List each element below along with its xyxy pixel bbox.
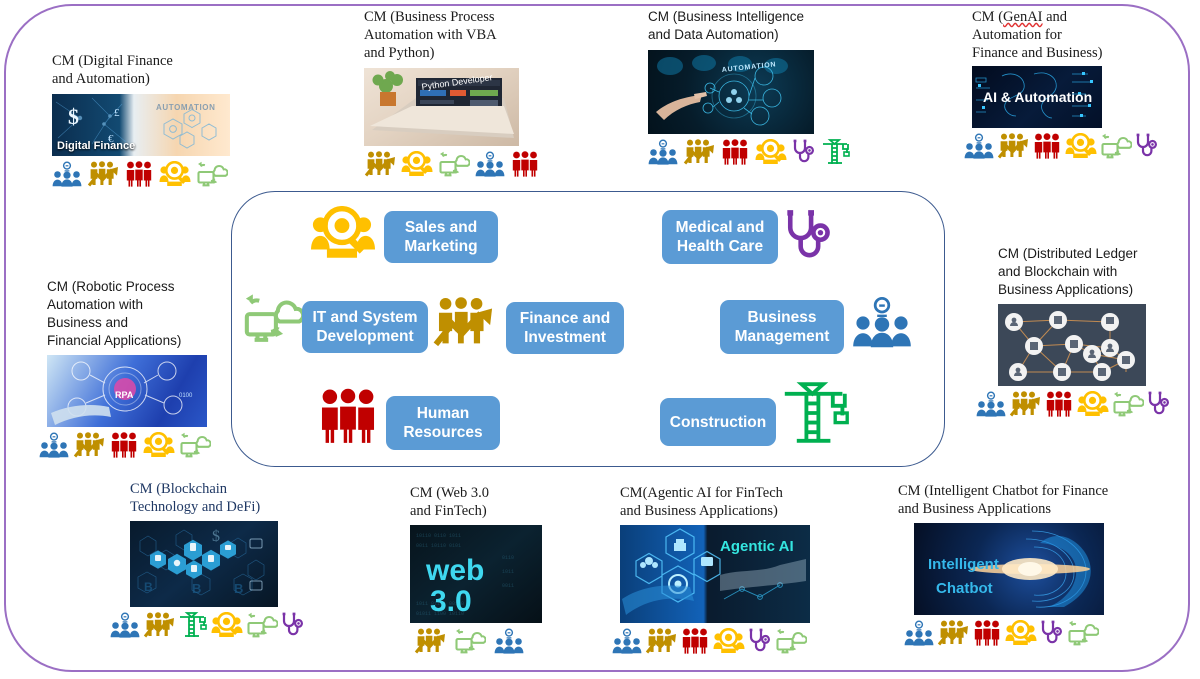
sales-magnifier-people-icon <box>713 628 745 654</box>
module-title: CM (Blockchain Technology and DeFi) <box>130 480 315 516</box>
crane-icon <box>780 380 852 451</box>
svg-text:$: $ <box>212 528 220 545</box>
thumb-caption: Intelligent <box>928 556 999 573</box>
module-title: CM (Distributed Ledger and Blockchain wi… <box>998 245 1198 299</box>
module-card-agentic-ai[interactable]: CM(Agentic AI for FinTech and Business A… <box>620 484 835 654</box>
svg-text:B: B <box>144 580 153 594</box>
module-card-rpa[interactable]: CM (Robotic Process Automation with Busi… <box>47 278 232 458</box>
sales-magnifier-people-icon <box>211 612 243 638</box>
module-thumbnail-genai: AI & Automation <box>972 66 1102 128</box>
module-card-digital-finance[interactable]: CM (Digital Finance and Automation) $ £ … <box>52 52 292 187</box>
pill-label: IT and System Development <box>310 308 420 346</box>
domain-pill-construction[interactable]: Construction <box>660 398 776 446</box>
domain-pill-sales-and-marketing[interactable]: Sales and Marketing <box>384 211 498 263</box>
module-title: CM (GenAI andAutomation forFinance and B… <box>972 8 1187 62</box>
module-thumbnail-digital-finance: $ £ € AUTOMATION Digital Finance <box>52 94 230 156</box>
three-people-icon <box>316 388 380 449</box>
stethoscope-icon <box>281 612 305 638</box>
module-title: CM (Intelligent Chatbot for Finance and … <box>898 482 1148 518</box>
monitor-cloud-sync-icon <box>196 161 228 187</box>
people-lightbulb-icon <box>976 391 1006 417</box>
thumb-caption-2: 3.0 <box>430 585 472 618</box>
people-growth-arrow-icon <box>937 620 969 646</box>
sales-magnifier-people-icon <box>1005 620 1037 646</box>
stethoscope-icon <box>784 208 834 269</box>
module-thumbnail-ledger <box>998 304 1146 386</box>
people-growth-arrow-icon <box>432 296 494 353</box>
thumb-caption-2: Chatbot <box>936 580 993 597</box>
misspelled-word: GenAI <box>1003 9 1042 25</box>
three-people-icon <box>680 628 710 654</box>
monitor-cloud-sync-icon <box>438 151 470 177</box>
stethoscope-icon <box>792 139 816 165</box>
domain-pill-business-management[interactable]: Business Management <box>720 300 844 354</box>
svg-text:0011 10110 0101: 0011 10110 0101 <box>416 543 461 549</box>
domain-pill-it-and-system-development[interactable]: IT and System Development <box>302 301 428 353</box>
people-lightbulb-icon <box>39 432 69 458</box>
people-lightbulb-icon <box>852 296 912 353</box>
monitor-cloud-sync-icon <box>246 612 278 638</box>
module-card-bpa-vba-python[interactable]: CM (Business Process Automation with VBA… <box>364 8 564 177</box>
module-thumbnail-bpa: Python Developer <box>364 68 519 146</box>
three-people-icon <box>720 139 750 165</box>
monitor-cloud-sync-icon <box>775 628 807 654</box>
sales-magnifier-people-icon <box>159 161 191 187</box>
module-title: CM (Web 3.0 and FinTech) <box>410 484 560 520</box>
monitor-cloud-sync-icon <box>179 432 211 458</box>
people-growth-arrow-icon <box>143 612 175 638</box>
pill-label: Medical and Health Care <box>670 218 770 256</box>
people-lightbulb-icon <box>648 139 678 165</box>
module-card-intelligent-chatbot[interactable]: CM (Intelligent Chatbot for Finance and … <box>898 482 1148 646</box>
svg-text:10110 0110 1011: 10110 0110 1011 <box>416 533 461 539</box>
pill-label: Finance and Investment <box>514 309 616 347</box>
people-growth-arrow-icon <box>87 161 119 187</box>
module-card-genai-automation[interactable]: CM (GenAI andAutomation forFinance and B… <box>972 8 1187 159</box>
pill-label: Construction <box>670 413 766 432</box>
people-growth-arrow-icon <box>645 628 677 654</box>
module-icon-row <box>364 151 564 177</box>
svg-text:AUTOMATION: AUTOMATION <box>156 103 215 112</box>
sales-magnifier-people-icon <box>1065 133 1097 159</box>
sales-magnifier-people-icon <box>143 432 175 458</box>
domain-pill-human-resources[interactable]: Human Resources <box>386 396 500 450</box>
module-card-web3-fintech[interactable]: CM (Web 3.0 and FinTech) 10110 0110 1011… <box>410 484 560 654</box>
domain-pill-finance-and-investment[interactable]: Finance and Investment <box>506 302 624 354</box>
pill-label: Sales and Marketing <box>392 218 490 256</box>
module-title: CM (Business Intelligence and Data Autom… <box>648 8 878 44</box>
module-icon-row <box>612 628 835 654</box>
thumb-art-svg <box>998 304 1146 386</box>
module-icon-row <box>976 391 1198 417</box>
thumb-caption: Agentic AI <box>720 538 794 555</box>
module-thumbnail-blockchain: $ B B B <box>130 521 278 607</box>
sales-magnifier-people-icon <box>755 139 787 165</box>
module-icon-row <box>648 139 878 165</box>
people-growth-arrow-icon <box>414 628 446 654</box>
svg-text:£: £ <box>114 107 120 119</box>
module-thumbnail-web3: 10110 0110 10110011 10110 0101 1011 0110… <box>410 525 542 623</box>
module-icon-row <box>414 628 560 654</box>
people-lightbulb-icon <box>52 161 82 187</box>
module-thumbnail-bi: AUTOMATION <box>648 50 814 134</box>
thumb-caption: web <box>425 554 484 587</box>
people-lightbulb-icon <box>475 151 505 177</box>
sales-magnifier-people-icon <box>1077 391 1109 417</box>
module-icon-row <box>39 432 232 458</box>
people-growth-arrow-icon <box>683 139 715 165</box>
stethoscope-icon <box>1135 133 1159 159</box>
people-growth-arrow-icon <box>73 432 105 458</box>
svg-text:B: B <box>192 581 201 596</box>
pill-label: Business Management <box>728 308 836 346</box>
three-people-icon <box>124 161 154 187</box>
sales-magnifier-people-icon <box>310 206 376 265</box>
people-growth-arrow-icon <box>1009 391 1041 417</box>
thumb-caption: AI & Automation <box>983 89 1092 105</box>
module-icon-row <box>904 620 1148 646</box>
module-thumbnail-rpa: RPA 0100 <box>47 355 207 427</box>
module-title: CM (Business Process Automation with VBA… <box>364 8 564 62</box>
three-people-icon <box>109 432 139 458</box>
three-people-icon <box>1032 133 1062 159</box>
thumb-caption: RPA <box>115 390 134 400</box>
crane-icon <box>821 139 851 165</box>
module-icon-row <box>964 133 1187 159</box>
module-thumbnail-chatbot: Intelligent Chatbot <box>914 523 1104 615</box>
stethoscope-icon <box>748 628 772 654</box>
people-lightbulb-icon <box>904 620 934 646</box>
svg-text:0110: 0110 <box>502 555 514 561</box>
module-card-distributed-ledger[interactable]: CM (Distributed Ledger and Blockchain wi… <box>998 245 1198 417</box>
svg-text:$: $ <box>68 104 79 129</box>
people-growth-arrow-icon <box>997 133 1029 159</box>
stethoscope-icon <box>1147 391 1171 417</box>
thumb-art-svg: AI & Automation <box>972 66 1102 128</box>
monitor-cloud-sync-icon <box>1067 620 1099 646</box>
module-title: CM(Agentic AI for FinTech and Business A… <box>620 484 835 520</box>
module-card-business-intelligence[interactable]: CM (Business Intelligence and Data Autom… <box>648 8 878 165</box>
sales-magnifier-people-icon <box>401 151 433 177</box>
three-people-icon <box>1044 391 1074 417</box>
people-lightbulb-icon <box>494 628 524 654</box>
thumb-art-svg: Intelligent Chatbot <box>914 523 1104 615</box>
module-title: CM (Digital Finance and Automation) <box>52 52 292 88</box>
module-title: CM (Robotic Process Automation with Busi… <box>47 278 232 350</box>
thumb-art-svg: RPA 0100 <box>47 355 207 427</box>
monitor-cloud-sync-icon <box>1112 391 1144 417</box>
people-lightbulb-icon <box>964 133 994 159</box>
thumb-art-svg: 10110 0110 10110011 10110 0101 1011 0110… <box>410 525 542 623</box>
svg-text:B: B <box>234 581 243 596</box>
thumb-art-svg: AUTOMATION <box>648 50 814 134</box>
svg-text:0011: 0011 <box>502 583 514 589</box>
pill-label: Human Resources <box>394 404 492 442</box>
monitor-cloud-sync-icon <box>454 628 486 654</box>
thumb-art-svg: $ B B B <box>130 521 278 607</box>
people-lightbulb-icon <box>612 628 642 654</box>
module-thumbnail-agentic-ai: Agentic AI <box>620 525 810 623</box>
core-domains-panel: Sales and Marketing Medical and Health C… <box>231 191 945 467</box>
thumb-art-svg: Python Developer <box>364 68 519 146</box>
domain-pill-medical-and-health-care[interactable]: Medical and Health Care <box>662 210 778 264</box>
crane-icon <box>178 612 208 638</box>
thumb-art-svg: Agentic AI <box>620 525 810 623</box>
three-people-icon <box>972 620 1002 646</box>
thumb-caption: Digital Finance <box>57 140 135 152</box>
people-growth-arrow-icon <box>364 151 396 177</box>
people-lightbulb-icon <box>110 612 140 638</box>
module-card-blockchain-defi[interactable]: CM (Blockchain Technology and DeFi) $ <box>130 480 315 638</box>
stethoscope-icon <box>1040 620 1064 646</box>
three-people-icon <box>510 151 540 177</box>
svg-text:0100: 0100 <box>179 393 193 399</box>
monitor-cloud-sync-icon <box>1100 133 1132 159</box>
monitor-cloud-sync-icon <box>242 292 304 349</box>
module-icon-row <box>52 161 292 187</box>
svg-text:1011: 1011 <box>502 569 514 575</box>
module-icon-row <box>110 612 315 638</box>
